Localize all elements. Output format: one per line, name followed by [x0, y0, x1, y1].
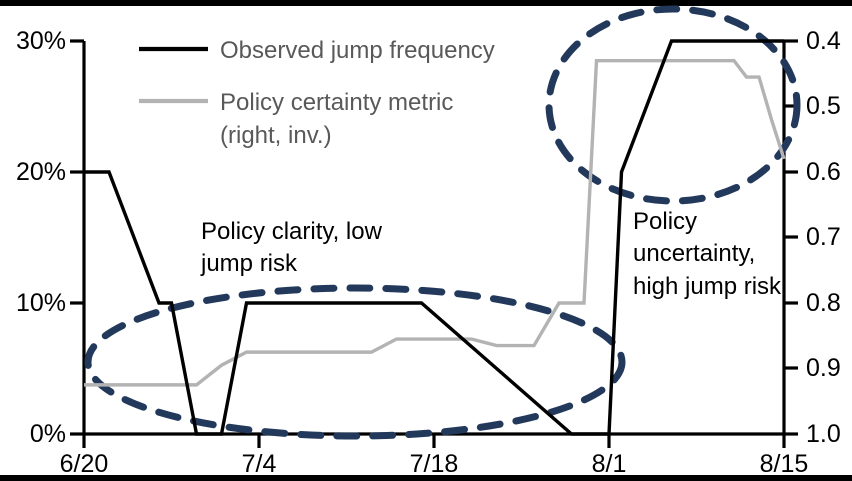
- policy-uncertainty-annotation: Policy uncertainty, high jump risk: [633, 206, 798, 303]
- clarity-ellipse: [88, 288, 622, 436]
- bottom-axis: [84, 434, 784, 448]
- right-axis-tick-0-9: 0.9: [806, 356, 841, 381]
- right-axis-tick-1-0: 1.0: [806, 422, 841, 447]
- legend-label-policy-certainty-metric: Policy certainty metric (right, inv.): [220, 86, 510, 152]
- left-axis-tick-20: 20%: [4, 160, 66, 185]
- x-axis-tick-8-1: 8/1: [549, 452, 669, 477]
- x-axis-tick-7-4: 7/4: [199, 452, 319, 477]
- left-axis-tick-0: 0%: [4, 422, 66, 447]
- right-axis-tick-0-5: 0.5: [806, 94, 841, 119]
- uncertainty-ellipse: [549, 9, 797, 201]
- x-axis-tick-8-15: 8/15: [724, 452, 844, 477]
- policy-clarity-annotation: Policy clarity, low jump risk: [201, 216, 431, 281]
- x-axis-tick-7-18: 7/18: [374, 452, 494, 477]
- right-axis-tick-0-8: 0.8: [806, 291, 841, 316]
- x-axis-tick-6-20: 6/20: [24, 452, 144, 477]
- legend-label-observed-jump-frequency: Observed jump frequency: [220, 34, 495, 67]
- left-axis: [70, 41, 84, 434]
- right-axis-tick-0-4: 0.4: [806, 29, 841, 54]
- left-axis-tick-30: 30%: [4, 29, 66, 54]
- left-axis-tick-10: 10%: [4, 291, 66, 316]
- right-axis-tick-0-7: 0.7: [806, 225, 841, 250]
- chart-figure: 30% 20% 10% 0% 0.4 0.5 0.6 0.7 0.8 0.9 1…: [0, 0, 852, 481]
- right-axis-tick-0-6: 0.6: [806, 160, 841, 185]
